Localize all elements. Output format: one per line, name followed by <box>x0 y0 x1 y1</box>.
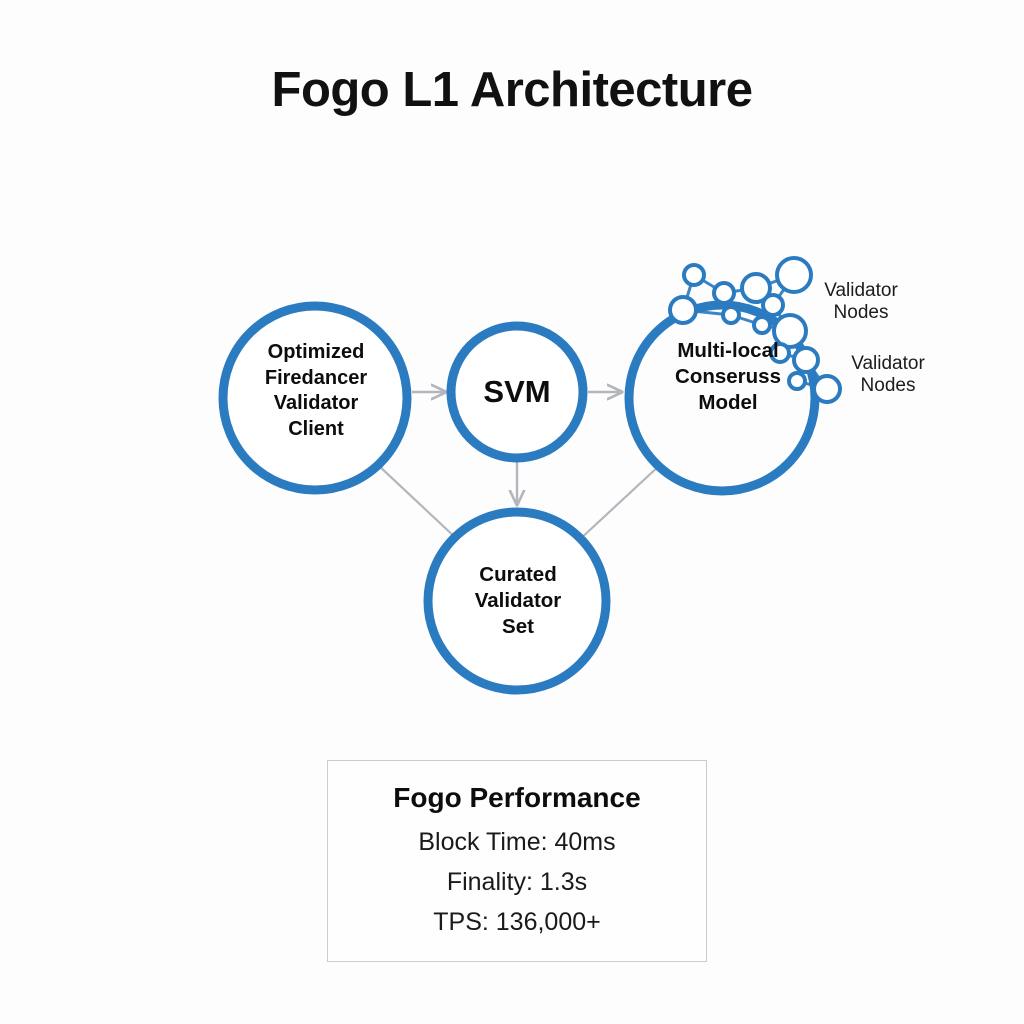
performance-panel: Fogo Performance Block Time: 40ms Finali… <box>327 760 707 962</box>
edge-firedancer-to-curated <box>378 465 458 540</box>
validator-node-icon <box>777 258 811 292</box>
performance-metric-tps: TPS: 136,000+ <box>328 908 706 937</box>
node-firedancer[interactable] <box>223 306 407 490</box>
node-curated[interactable] <box>428 512 606 690</box>
validator-node-icon <box>714 283 734 303</box>
performance-metric-finality: Finality: 1.3s <box>328 868 706 897</box>
validator-node-icon <box>794 348 818 372</box>
performance-metric-block-time: Block Time: 40ms <box>328 828 706 857</box>
validator-node-icon <box>670 297 696 323</box>
validator-node-icon <box>754 317 770 333</box>
edge-consensus-to-curated <box>578 465 660 541</box>
performance-panel-title: Fogo Performance <box>328 782 706 814</box>
validator-node-icon <box>763 295 783 315</box>
validator-node-icon <box>771 344 789 362</box>
validator-node-icon <box>789 373 805 389</box>
performance-metric-list: Block Time: 40ms Finality: 1.3s TPS: 136… <box>328 828 706 937</box>
validator-node-icon <box>723 307 739 323</box>
validator-node-icon <box>684 265 704 285</box>
node-svm[interactable] <box>451 326 583 458</box>
validator-node-icon <box>814 376 840 402</box>
diagram-canvas: Fogo L1 Architecture <box>0 0 1024 1024</box>
